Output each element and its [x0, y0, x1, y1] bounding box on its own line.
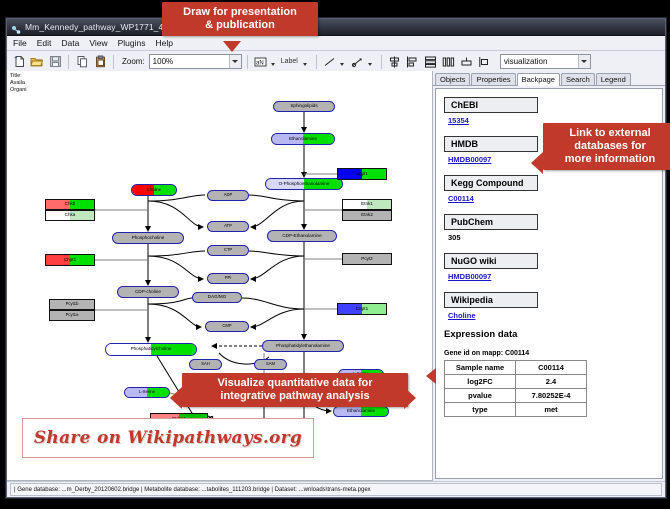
node-label: Chkb — [65, 202, 76, 207]
node-label: Sphingolipids — [290, 104, 317, 109]
node-label: Etnk2 — [361, 213, 373, 218]
line-tool-icon[interactable] — [322, 54, 338, 70]
metabolite-node[interactable]: Choline — [131, 184, 177, 196]
svg-text:aN: aN — [256, 60, 264, 66]
metabolite-node[interactable]: Ethanolamine — [333, 406, 389, 417]
table-row: pvalue 7.80252E-4 — [445, 389, 587, 403]
paste-icon[interactable] — [92, 54, 108, 70]
gene-node[interactable]: Etnk2 — [342, 210, 392, 221]
gene-node[interactable]: Pcyt1a — [49, 310, 95, 321]
zoom-combo[interactable]: 100% — [149, 54, 242, 69]
visualize-callout: Visualize quantitative data for integrat… — [182, 373, 408, 407]
node-label: Ethanolamine — [347, 409, 375, 414]
align-left-icon[interactable] — [405, 54, 421, 70]
metabolite-node[interactable]: Phosphocholine — [112, 232, 184, 244]
title-bar: Mm_Kennedy_pathway_WP1771_45176.gpml — [7, 19, 665, 36]
gene-node[interactable]: Chpt1 — [45, 254, 95, 266]
side-panel-tabs: Objects Properties Backpage Search Legen… — [433, 71, 665, 86]
node-label: CTP — [224, 248, 232, 252]
status-text: | Gene database: ...m_Derby_20120602.bri… — [14, 487, 371, 493]
node-label: ADP — [224, 193, 233, 197]
datanode-chevron-down-icon[interactable] — [271, 53, 275, 71]
node-label: O-Phosphoethanolamine — [279, 182, 330, 187]
tab-backpage[interactable]: Backpage — [517, 73, 560, 86]
pathvisio-icon — [11, 22, 21, 32]
status-bar: | Gene database: ...m_Derby_20120602.bri… — [7, 481, 665, 497]
links-callout: Link to external databases for more info… — [543, 123, 670, 170]
metabolite-node[interactable]: Phosphatidylethanolamine — [262, 340, 344, 352]
node-label: ATP — [224, 224, 232, 228]
datanode-icon[interactable]: aN — [253, 54, 269, 70]
node-label: CDP-Ethanolamine — [282, 234, 321, 239]
node-label: Sgpl1 — [356, 172, 368, 177]
gene-node[interactable]: Etnk1 — [342, 199, 392, 210]
node-label: CMP — [222, 324, 231, 328]
draw-callout-arrow-icon — [223, 41, 241, 52]
menu-bar: File Edit Data View Plugins Help — [7, 36, 665, 51]
status-field: | Gene database: ...m_Derby_20120602.bri… — [10, 483, 662, 496]
visualization-combo[interactable]: visualization — [500, 54, 591, 69]
menu-item-data[interactable]: Data — [60, 38, 80, 48]
label-tool-label[interactable]: Label — [281, 58, 298, 65]
visualize-callout-arrow-icon — [170, 387, 182, 409]
node-label: Choline — [147, 188, 161, 192]
metabolite-node[interactable]: CDP-Ethanolamine — [267, 230, 337, 242]
draw-callout: Draw for presentation & publication — [162, 2, 318, 36]
db-value-pubchem: 305 — [448, 233, 654, 242]
visualization-chevron-down-icon[interactable] — [578, 55, 590, 68]
metabolite-node[interactable]: CDP-choline — [117, 286, 179, 298]
metabolite-node[interactable]: L-Serine — [124, 387, 170, 398]
node-label: Etnk1 — [361, 202, 373, 207]
metabolite-node[interactable]: ATP — [207, 221, 249, 232]
node-label: Cept1 — [356, 307, 368, 312]
menu-item-view[interactable]: View — [88, 38, 108, 48]
tab-objects[interactable]: Objects — [435, 73, 470, 85]
toolbar-separator-5 — [381, 55, 382, 69]
align-center-icon[interactable] — [387, 54, 403, 70]
table-cell-key: Sample name — [445, 361, 516, 375]
table-cell-key: pvalue — [445, 389, 516, 403]
table-cell-key: type — [445, 403, 516, 417]
table-cell-key: log2FC — [445, 375, 516, 389]
copy-icon[interactable] — [74, 54, 90, 70]
share-callout: Share on Wikipathways.org — [22, 418, 314, 458]
node-label: Ethanolamine — [289, 137, 317, 142]
table-row: Sample name C00114 — [445, 361, 587, 375]
stack-icon[interactable] — [423, 54, 439, 70]
table-cell-value: C00114 — [516, 361, 587, 375]
db-header-hmdb: HMDB — [444, 136, 538, 152]
menu-item-edit[interactable]: Edit — [36, 38, 53, 48]
gene-node[interactable]: Pcyt2 — [342, 253, 392, 265]
metabolite-node[interactable]: CTP — [207, 245, 249, 256]
order-icon[interactable] — [477, 54, 493, 70]
node-label: SAH — [201, 362, 210, 366]
share-callout-text: Share on Wikipathways.org — [34, 428, 302, 448]
open-folder-icon[interactable] — [29, 54, 45, 70]
links-callout-arrow-icon — [531, 152, 543, 174]
toolbar-separator-4 — [316, 55, 317, 69]
visualize-callout-arrow-right-icon — [404, 387, 416, 409]
table-row: log2FC 2.4 — [445, 375, 587, 389]
node-label: Pcyt2 — [361, 257, 373, 262]
metabolite-node[interactable]: SAH — [189, 359, 222, 370]
toolbar-separator-2 — [113, 55, 114, 69]
expression-table: Sample name C00114 log2FC 2.4 pvalue 7.8… — [444, 360, 587, 417]
node-label: CDP-choline — [135, 290, 161, 295]
gene-node[interactable]: Pcyt1b — [49, 299, 95, 310]
db-header-kegg: Kegg Compound — [444, 175, 538, 191]
db-header-nugowiki: NuGO wiki — [444, 253, 538, 269]
node-label: L-Serine — [139, 390, 155, 394]
metabolite-node[interactable]: PPi — [207, 273, 249, 284]
toolbar-separator-3 — [247, 55, 248, 69]
menu-item-plugins[interactable]: Plugins — [117, 38, 147, 48]
node-label: PPi — [225, 276, 232, 280]
node-label: Phosphatidylcholine — [131, 347, 172, 352]
db-header-chebi: ChEBI — [444, 97, 538, 113]
menu-item-file[interactable]: File — [12, 38, 28, 48]
line-chevron-down-icon[interactable] — [340, 53, 344, 71]
db-header-wikipedia: Wikipedia — [444, 292, 538, 308]
metabolite-node[interactable]: CMP — [205, 321, 249, 332]
group-icon[interactable] — [459, 54, 475, 70]
node-label: Pcyt1a — [66, 313, 79, 317]
receptor-line-icon[interactable] — [350, 54, 366, 70]
node-label: Phosphatidylethanolamine — [276, 344, 330, 349]
node-label: Phosphocholine — [132, 236, 165, 241]
gene-id-line: Gene id on mapp: C00114 — [444, 350, 654, 357]
metabolite-node[interactable]: SAM — [254, 359, 287, 370]
menu-item-help[interactable]: Help — [155, 38, 174, 48]
distribute-icon[interactable] — [441, 54, 457, 70]
tab-legend[interactable]: Legend — [596, 73, 631, 85]
expression-data-heading: Expression data — [444, 329, 654, 340]
metabolite-node[interactable]: DAG/MG — [192, 292, 242, 303]
gene-node[interactable]: Chka — [45, 210, 95, 221]
tool-bar: Zoom: 100% aN Label — [7, 51, 665, 73]
gene-node[interactable]: Sgpl1 — [337, 168, 387, 180]
expression-callout-arrow-icon — [426, 368, 436, 384]
tab-search[interactable]: Search — [561, 73, 595, 85]
gene-node[interactable]: Chkb — [45, 199, 95, 210]
zoom-value: 100% — [153, 57, 173, 66]
zoom-combo-chevron-down-icon[interactable] — [229, 55, 241, 68]
label-chevron-down-icon[interactable] — [303, 53, 307, 71]
node-label: Pcyt1b — [66, 302, 79, 306]
metabolite-node[interactable]: ADP — [207, 190, 249, 201]
tab-properties[interactable]: Properties — [471, 73, 515, 85]
db-link-nugowiki[interactable]: HMDB00097 — [448, 272, 654, 281]
table-cell-value: 7.80252E-4 — [516, 389, 587, 403]
table-cell-value: met — [516, 403, 587, 417]
node-label: SAM — [266, 362, 275, 366]
toolbar-separator-1 — [68, 55, 69, 69]
save-disk-icon[interactable] — [47, 54, 63, 70]
table-cell-value: 2.4 — [516, 375, 587, 389]
table-row: type met — [445, 403, 587, 417]
metabolite-node[interactable]: Ethanolamine — [271, 133, 335, 145]
gene-node[interactable]: Cept1 — [337, 303, 387, 315]
db-link-kegg[interactable]: C00114 — [448, 194, 654, 203]
db-link-wikipedia[interactable]: Choline — [448, 311, 654, 320]
node-label: Chka — [65, 213, 76, 218]
visualization-value: visualization — [504, 57, 548, 66]
new-document-icon[interactable] — [11, 54, 27, 70]
metabolite-node[interactable]: Phosphatidylcholine — [105, 343, 197, 356]
node-label: Chpt1 — [64, 258, 76, 263]
metabolite-node[interactable]: O-Phosphoethanolamine — [265, 178, 343, 190]
node-label: DAG/MG — [208, 295, 227, 300]
db-header-pubchem: PubChem — [444, 214, 538, 230]
zoom-label: Zoom: — [122, 57, 145, 66]
metabolite-node[interactable]: Sphingolipids — [273, 101, 335, 112]
receptor-chevron-down-icon[interactable] — [368, 53, 372, 71]
